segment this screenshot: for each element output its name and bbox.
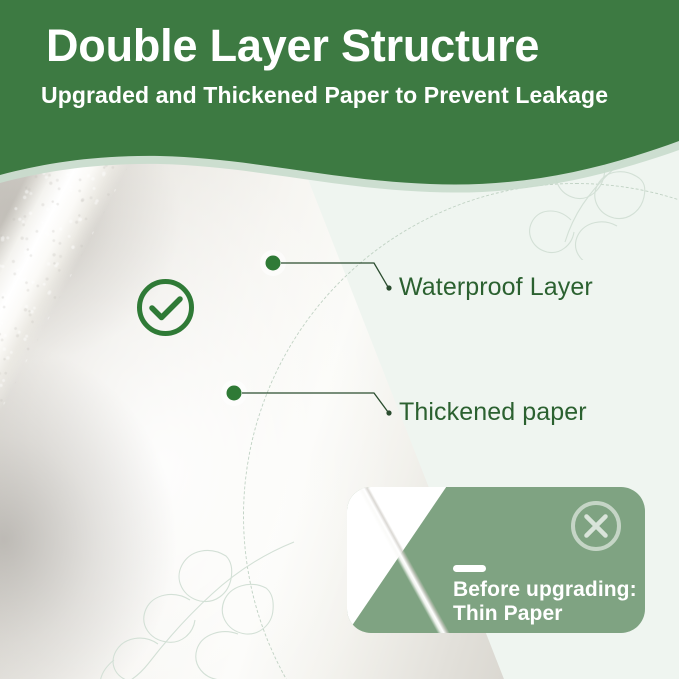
x-circle-icon [569, 499, 623, 553]
callout-label-waterproof-layer: Waterproof Layer [399, 275, 593, 300]
card-caption-line-2: Thin Paper [453, 602, 643, 626]
leaf-branch-icon-bottom-left [98, 540, 298, 679]
card-caption: Before upgrading: Thin Paper [453, 578, 643, 625]
leaf-branch-icon-top-right [505, 130, 665, 260]
product-infographic: Double Layer Structure Upgraded and Thic… [0, 0, 679, 679]
callout-label-thickened-paper: Thickened paper [399, 400, 587, 425]
card-caption-line-1: Before upgrading: [453, 578, 643, 602]
before-upgrading-card: Before upgrading: Thin Paper [347, 487, 645, 633]
check-circle-icon [135, 277, 196, 338]
card-dash-divider [453, 565, 486, 572]
